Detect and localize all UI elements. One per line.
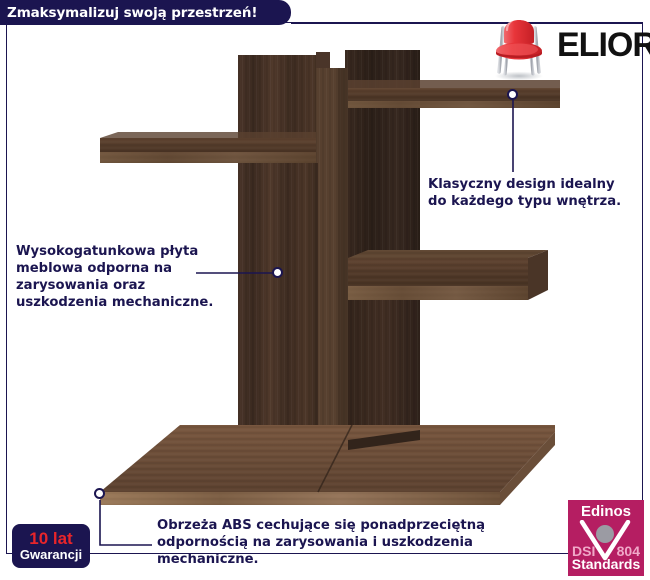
upper-right-shelf [330,80,560,108]
warranty-label: Gwarancji [20,548,82,563]
infographic-page: Klasyczny design idealny do każdego typu… [0,0,650,580]
red-chair-icon [483,8,555,82]
leader-line-abs [100,500,152,545]
callout-text-design: Klasyczny design idealny do każdego typu… [428,176,646,210]
warranty-badge: 10 lat Gwarancji [12,524,90,568]
base-plate [100,425,555,505]
certification-title: Edinos [568,503,644,520]
upper-left-shelf [100,132,325,163]
callout-dot-abs[interactable] [94,488,105,499]
top-tab [316,52,330,70]
mid-right-shelf [348,250,548,300]
headline-text: Zmaksymalizuj swoją przestrzeń! [0,5,257,21]
callout-dot-design[interactable] [507,89,518,100]
lower-left-panel [238,163,318,432]
callout-text-board-quality: Wysokogatunkowa płyta meblowa odporna na… [16,243,248,312]
certification-badge: Edinos DSI 804 Standards [568,500,644,576]
brand-name: ELIOR [557,26,650,65]
header-banner: Zmaksymalizuj swoją przestrzeń! [0,0,291,25]
center-divider [316,68,348,470]
certification-subtitle: Standards [568,556,644,572]
brand-logo[interactable]: ELIOR [483,6,643,84]
callout-text-abs-edging: Obrzeża ABS cechujące się ponadprzeciętn… [157,517,557,568]
callout-dot-board[interactable] [272,267,283,278]
lower-right-panel [348,300,420,440]
warranty-years: 10 lat [29,530,72,547]
